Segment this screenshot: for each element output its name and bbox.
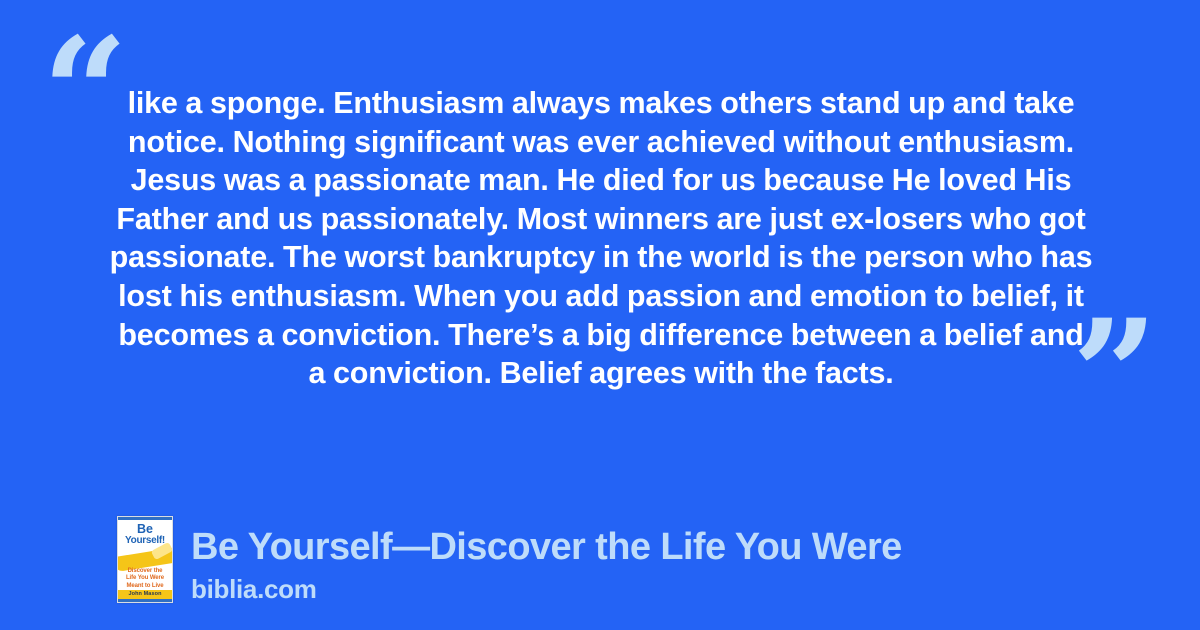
book-cover-bottom-bar [118, 599, 172, 602]
quote-text: like a sponge. Enthusiasm always makes o… [108, 84, 1094, 393]
book-cover-thumbnail[interactable]: Be Yourself! Discover the Life You Were … [117, 516, 173, 603]
footer-text-block: Be Yourself—Discover the Life You Were b… [191, 525, 902, 603]
closing-quote-icon: ” [1072, 300, 1156, 450]
book-cover-subtitle-line2: Life You Were [126, 575, 164, 581]
book-title[interactable]: Be Yourself—Discover the Life You Were [191, 525, 902, 569]
book-cover-author: John Mason [118, 590, 172, 599]
site-link[interactable]: biblia.com [191, 575, 902, 603]
book-cover-top-bar [118, 517, 172, 520]
book-cover-subtitle: Discover the Life You Were Meant to Live [118, 568, 172, 590]
book-cover-subtitle-line1: Discover the [128, 568, 163, 574]
quote-card: “ like a sponge. Enthusiasm always makes… [0, 0, 1200, 630]
footer-attribution: Be Yourself! Discover the Life You Were … [117, 516, 902, 603]
book-cover-subtitle-line3: Meant to Live [126, 583, 163, 589]
